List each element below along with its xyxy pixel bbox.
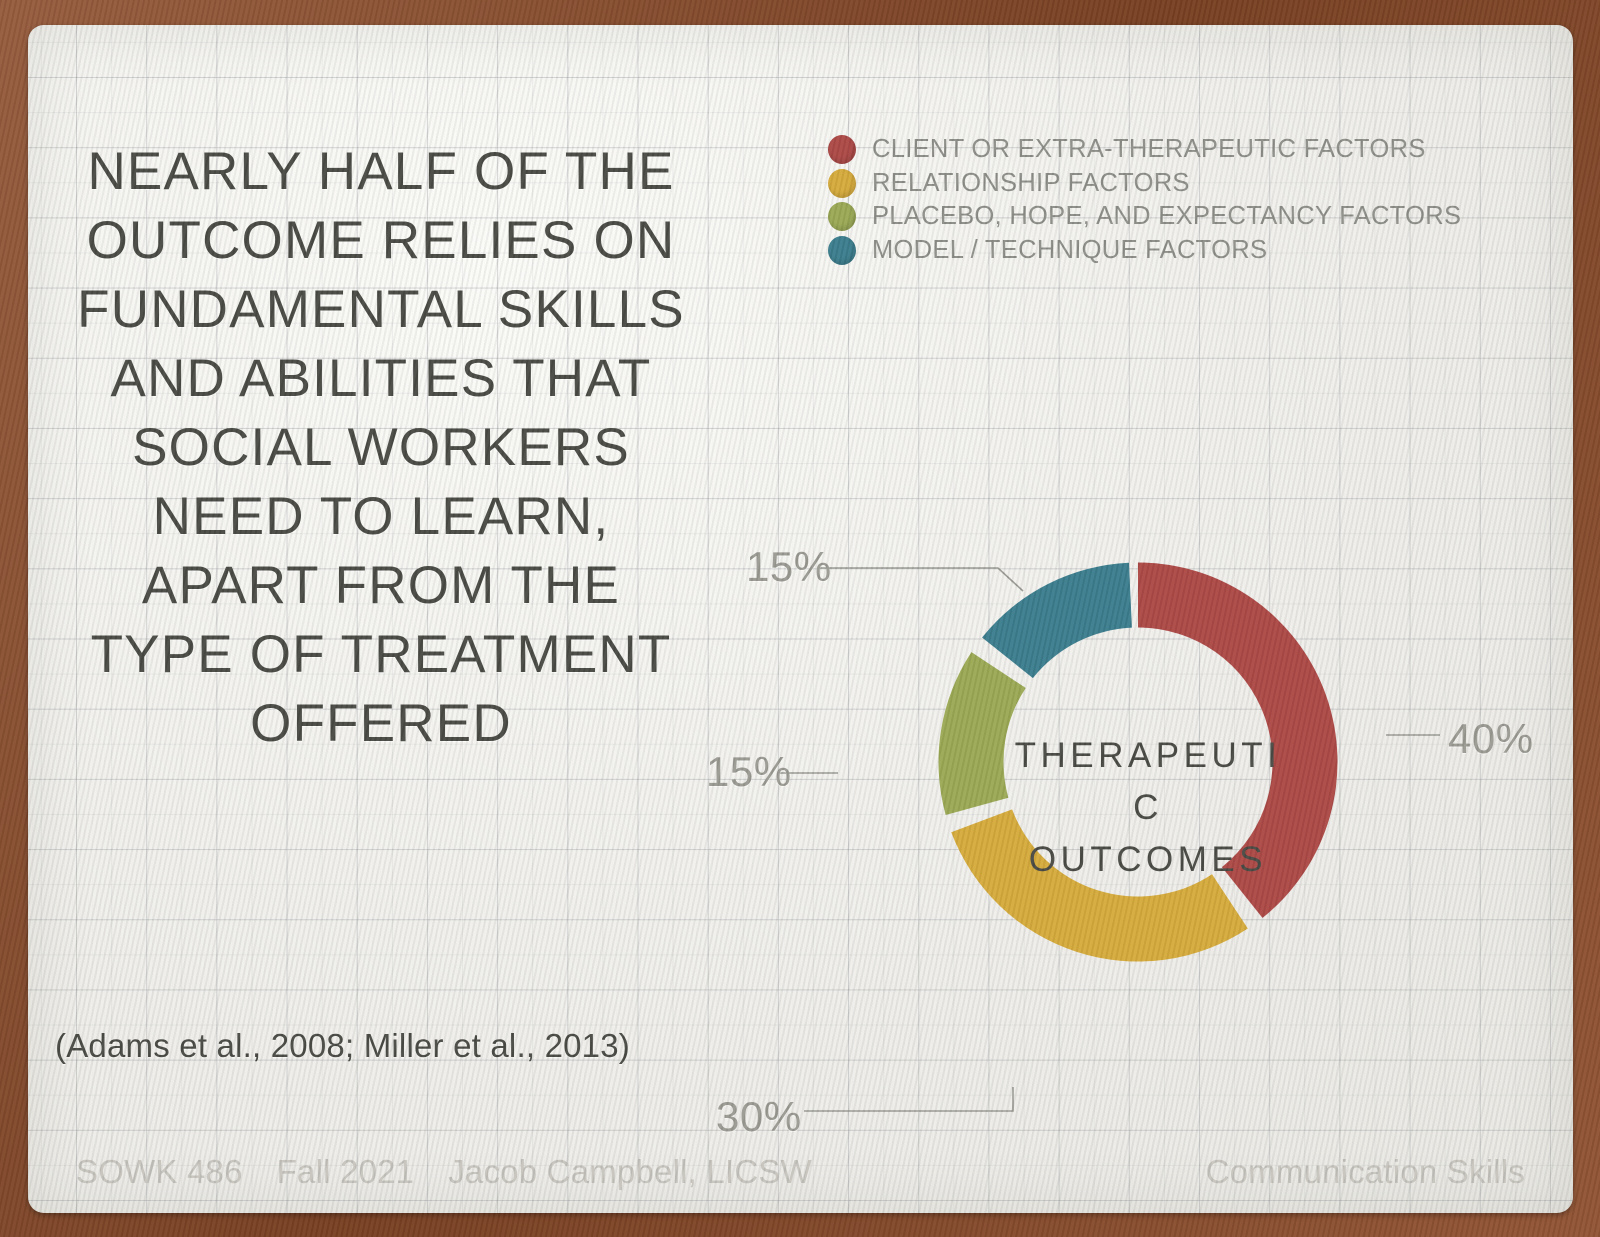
slide-frame: Nearly half of the outcome relies on fun… — [0, 0, 1600, 1237]
callout-percent-model: 15% — [746, 543, 832, 591]
footer-term: Fall 2021 — [277, 1153, 415, 1191]
legend-label-placebo: Placebo, hope, and expectancy factors — [872, 202, 1461, 231]
page-title: Nearly half of the outcome relies on fun… — [66, 137, 696, 758]
callout-percent-client: 40% — [1448, 715, 1534, 763]
footer-left-group: SOWK 486 Fall 2021 Jacob Campbell, LICSW — [76, 1153, 812, 1191]
footer-topic: Communication Skills — [1206, 1153, 1525, 1191]
slide-paper: Nearly half of the outcome relies on fun… — [28, 25, 1573, 1213]
footer-course: SOWK 486 — [76, 1153, 243, 1191]
leader-line-yellow — [804, 1087, 1013, 1111]
legend-label-model: Model / technique factors — [872, 236, 1267, 265]
donut-center-label: THERAPEUTI C OUTCOMES — [1003, 730, 1293, 886]
legend-swatch-yellow-icon — [828, 169, 856, 198]
legend-item-placebo[interactable]: Placebo, hope, and expectancy factors — [828, 200, 1548, 234]
legend-item-model[interactable]: Model / technique factors — [828, 234, 1548, 268]
legend-label-client: Client or extra-therapeutic factors — [872, 135, 1426, 164]
donut-center-line-3: OUTCOMES — [1003, 834, 1293, 886]
donut-center-line-1: THERAPEUTI — [1003, 730, 1293, 782]
legend-swatch-green-icon — [828, 202, 856, 231]
legend-swatch-red-icon — [828, 135, 856, 164]
chart-legend: Client or extra-therapeutic factors Rela… — [828, 133, 1548, 267]
slide-footer: SOWK 486 Fall 2021 Jacob Campbell, LICSW… — [28, 1149, 1573, 1195]
callout-percent-relationship: 30% — [716, 1093, 802, 1141]
donut-segment-model[interactable] — [982, 563, 1132, 678]
legend-item-relationship[interactable]: Relationship factors — [828, 167, 1548, 201]
legend-swatch-teal-icon — [828, 236, 856, 265]
citation-text: (Adams et al., 2008; Miller et al., 2013… — [55, 1027, 630, 1065]
callout-percent-placebo: 15% — [706, 748, 792, 796]
legend-item-client[interactable]: Client or extra-therapeutic factors — [828, 133, 1548, 167]
donut-center-line-2: C — [1003, 782, 1293, 834]
legend-label-relationship: Relationship factors — [872, 169, 1190, 198]
footer-instructor: Jacob Campbell, LICSW — [448, 1153, 812, 1191]
